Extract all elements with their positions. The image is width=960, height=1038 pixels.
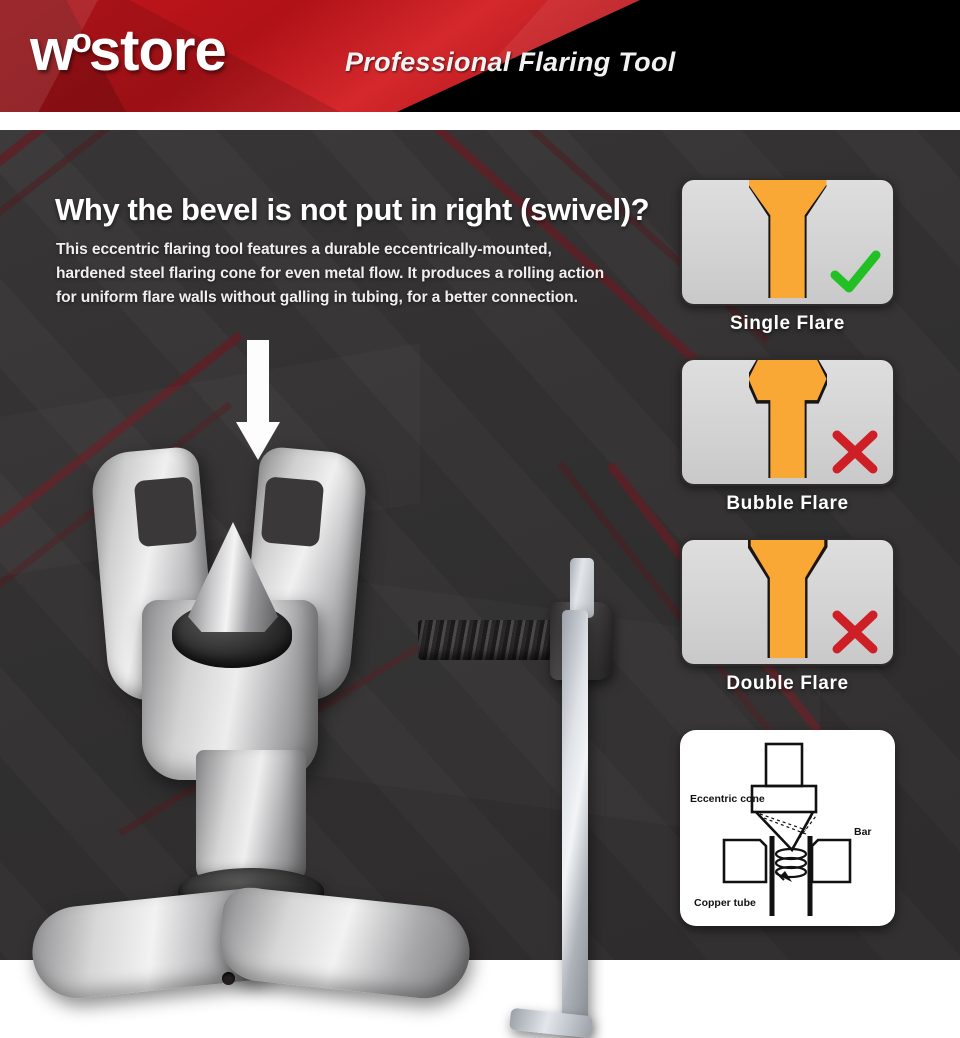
product-photo [60,330,640,930]
eccentric-cone-diagram[interactable]: Eccentric cone Bar Copper tube [680,730,895,926]
flare-card-bubble[interactable]: Bubble Flare [680,358,895,515]
page-body-copy: This eccentric flaring tool features a d… [56,238,616,310]
diagram-label-tube: Copper tube [694,897,756,909]
check-icon [829,248,881,296]
tool-handle-tip [570,558,594,618]
yoke-notch [261,476,325,547]
flare-card-face [680,178,895,306]
flare-inner-wall [756,543,820,583]
down-arrow-icon [236,340,280,460]
tool-handle-bar [562,610,588,1030]
cross-icon [829,428,881,476]
yoke-notch [134,476,198,547]
tool-wing-right [216,885,474,1003]
flare-card-single[interactable]: Single Flare [680,178,895,335]
page-header: wostore Professional Flaring Tool [0,0,960,112]
tool-neck [196,750,306,885]
page-headline: Why the bevel is not put in right (swive… [55,192,649,228]
flare-shape-single [749,180,827,298]
diagram-label-cone: Eccentric cone [690,793,765,805]
tool-threaded-screw [418,620,558,660]
flaring-tool [100,450,430,850]
flare-card-double[interactable]: Double Flare [680,538,895,695]
brand-logo-store: store [89,18,226,83]
brand-logo-w: w [30,18,74,83]
header-title: Professional Flaring Tool [345,47,676,78]
diagram-label-bar: Bar [854,826,872,838]
flare-card-face [680,358,895,486]
flare-card-label: Bubble Flare [680,493,895,515]
flare-shape-bubble [749,360,827,478]
brand-logo: wostore [30,22,226,80]
cross-icon [829,608,881,656]
flare-card-face [680,538,895,666]
header-divider [0,112,960,130]
flare-card-label: Single Flare [680,313,895,335]
diagram-svg: Eccentric cone Bar Copper tube [680,730,895,926]
flare-card-label: Double Flare [680,673,895,695]
tool-wing-hole [222,972,235,985]
arrow-shaft [247,340,269,424]
